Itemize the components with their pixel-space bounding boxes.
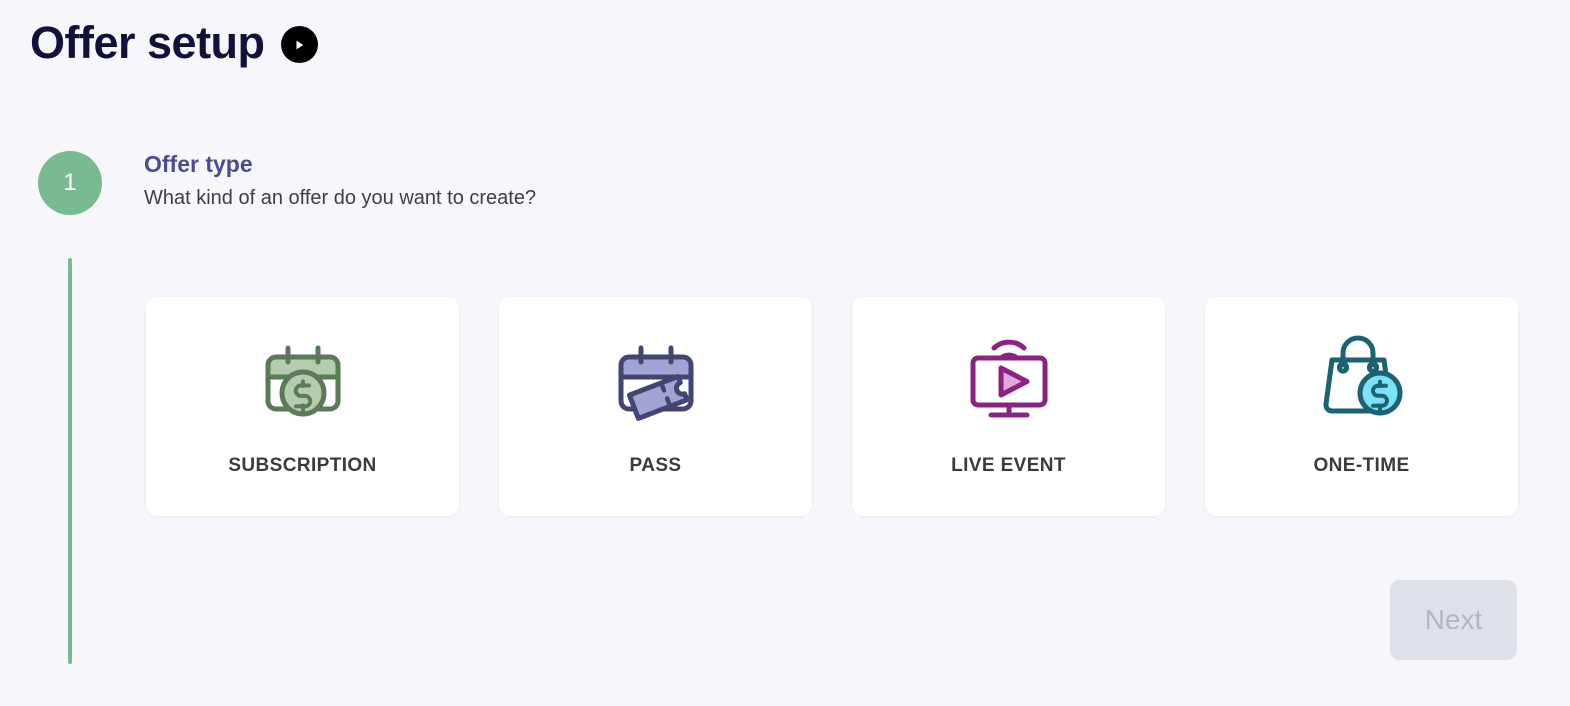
step-subtitle: What kind of an offer do you want to cre…	[144, 186, 536, 210]
step-progress-rail	[68, 258, 72, 664]
page-header: Offer setup	[30, 20, 318, 65]
offer-type-label: LIVE EVENT	[951, 455, 1066, 477]
offer-type-card-subscription[interactable]: SUBSCRIPTION	[146, 297, 459, 516]
monitor-broadcast-play-icon	[963, 331, 1055, 423]
calendar-ticket-icon	[610, 331, 702, 423]
offer-type-label: SUBSCRIPTION	[228, 455, 376, 477]
step-text-group: Offer type What kind of an offer do you …	[144, 151, 536, 210]
offer-type-card-live-event[interactable]: LIVE EVENT	[852, 297, 1165, 516]
step-header: 1 Offer type What kind of an offer do yo…	[38, 151, 536, 215]
offer-type-card-list: SUBSCRIPTION PASS	[146, 297, 1518, 516]
calendar-dollar-icon	[257, 331, 349, 423]
step-title: Offer type	[144, 151, 536, 177]
offer-type-card-one-time[interactable]: ONE-TIME	[1205, 297, 1518, 516]
step-number-badge: 1	[38, 151, 102, 215]
shopping-bag-dollar-icon	[1316, 331, 1408, 423]
page-title: Offer setup	[30, 20, 265, 65]
offer-type-label: PASS	[630, 455, 682, 477]
play-circle-icon[interactable]	[281, 26, 318, 63]
offer-type-card-pass[interactable]: PASS	[499, 297, 812, 516]
next-button[interactable]: Next	[1390, 580, 1517, 660]
offer-type-label: ONE-TIME	[1313, 455, 1409, 477]
